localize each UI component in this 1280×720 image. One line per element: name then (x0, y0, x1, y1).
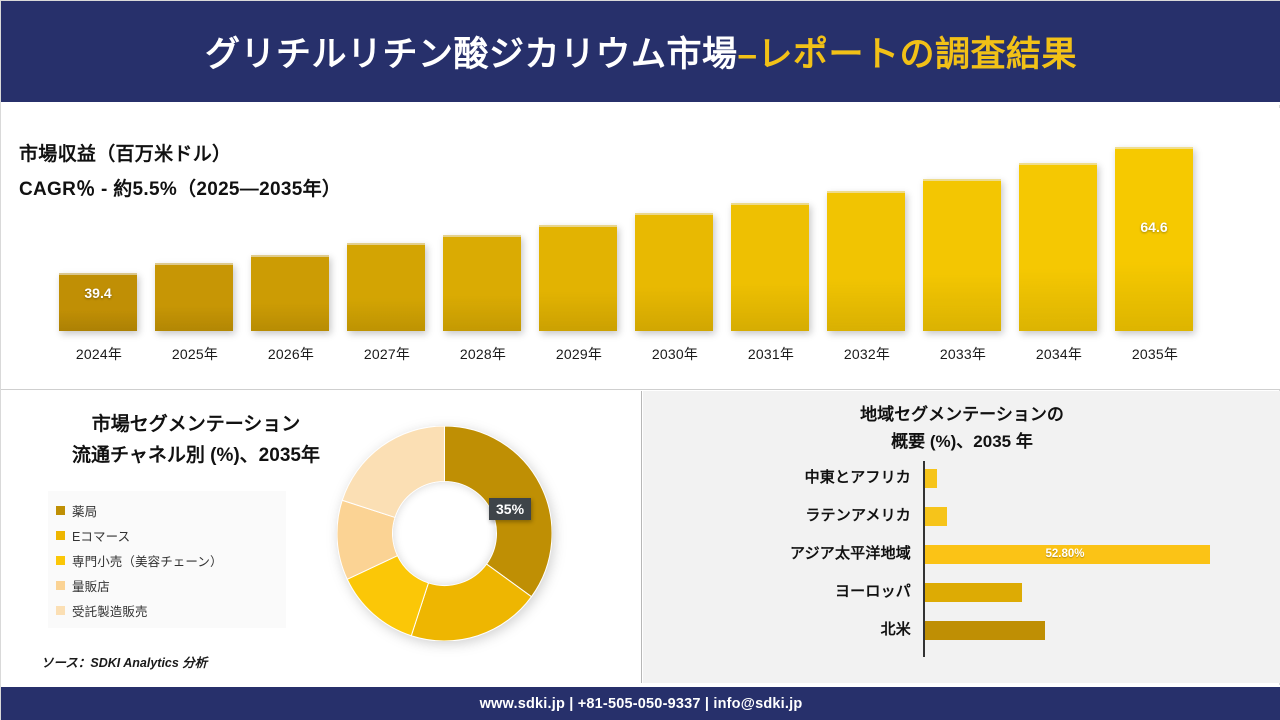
revenue-bar-group: 2029年 (531, 108, 627, 390)
page-title-accent: –レポートの調査結果 (738, 35, 1077, 74)
revenue-bar-xlabel: 2030年 (627, 344, 723, 364)
revenue-bar-xlabel: 2033年 (915, 344, 1011, 364)
legend-swatch-icon (56, 556, 65, 565)
segmentation-title: 市場セグメンテーション 流通チャネル別 (%)、2035年 (31, 409, 361, 471)
revenue-bar (827, 191, 905, 331)
revenue-bar (155, 263, 233, 331)
revenue-bar-xlabel: 2026年 (243, 344, 339, 364)
legend-item[interactable]: Eコマース (56, 523, 278, 548)
donut-chart: 35% (337, 426, 552, 641)
donut-value-callout: 35% (489, 498, 531, 520)
revenue-bar-xlabel: 2029年 (531, 344, 627, 364)
revenue-bar-group: 2033年 (915, 108, 1011, 390)
regional-bar-label: 中東とアフリカ (643, 465, 911, 491)
revenue-bar-value: 64.6 (1115, 219, 1193, 235)
regional-bar-value: 52.80% (1046, 545, 1085, 564)
segmentation-title-line1: 市場セグメンテーション (31, 409, 361, 440)
revenue-bar-group: 39.42024年 (51, 108, 147, 390)
legend-swatch-icon (56, 506, 65, 515)
legend-swatch-icon (56, 531, 65, 540)
revenue-bar-group: 2025年 (147, 108, 243, 390)
revenue-bar (251, 255, 329, 331)
legend-swatch-icon (56, 581, 65, 590)
revenue-bar-value: 39.4 (59, 285, 137, 301)
revenue-bar-xlabel: 2028年 (435, 344, 531, 364)
legend-item-label: 薬局 (72, 501, 97, 520)
revenue-bar-xlabel: 2031年 (723, 344, 819, 364)
regional-bar-row: 中東とアフリカ (643, 465, 1280, 491)
legend-item[interactable]: 専門小売（美容チェーン） (56, 548, 278, 573)
regional-bar-label: アジア太平洋地域 (643, 541, 911, 567)
page-title-main: グリチルリチン酸ジカリウム市場 (205, 35, 738, 74)
revenue-bar-xlabel: 2027年 (339, 344, 435, 364)
legend-item-label: Eコマース (72, 526, 130, 545)
revenue-bar-xlabel: 2032年 (819, 344, 915, 364)
revenue-bar-group: 64.62035年 (1107, 108, 1203, 390)
regional-title: 地域セグメンテーションの 概要 (%)、2035 年 (643, 401, 1280, 455)
regional-bar-row: ラテンアメリカ (643, 503, 1280, 529)
regional-bar-row: アジア太平洋地域52.80% (643, 541, 1280, 567)
revenue-bar-group: 2028年 (435, 108, 531, 390)
market-revenue-section: 市場収益（百万米ドル） CAGR％ - 約5.5%（2025―2035年） 39… (1, 108, 1280, 390)
revenue-bar-group: 2027年 (339, 108, 435, 390)
donut-legend: 薬局Eコマース専門小売（美容チェーン）量販店受託製造販売 (48, 491, 286, 628)
revenue-bar (731, 203, 809, 331)
infographic-page: グリチルリチン酸ジカリウム市場–レポートの調査結果 市場収益（百万米ドル） CA… (0, 0, 1280, 720)
revenue-bar-group: 2026年 (243, 108, 339, 390)
regional-title-line1: 地域セグメンテーションの (643, 401, 1280, 428)
segmentation-title-line2: 流通チャネル別 (%)、2035年 (31, 440, 361, 471)
legend-item-label: 受託製造販売 (72, 601, 148, 620)
regional-bar (925, 507, 947, 526)
revenue-bar-xlabel: 2025年 (147, 344, 243, 364)
regional-bar-label: ヨーロッパ (643, 579, 911, 605)
revenue-bar (59, 273, 137, 331)
revenue-bar (1115, 147, 1193, 331)
regional-bar (925, 621, 1045, 640)
regional-segmentation-panel: 地域セグメンテーションの 概要 (%)、2035 年 中東とアフリカラテンアメリ… (643, 391, 1280, 683)
legend-item[interactable]: 受託製造販売 (56, 598, 278, 623)
source-note: ソース：SDKI Analytics 分析 (41, 652, 207, 671)
regional-bar (925, 583, 1022, 602)
revenue-bar (347, 243, 425, 331)
revenue-bar-group: 2031年 (723, 108, 819, 390)
revenue-bar-chart: 39.42024年2025年2026年2027年2028年2029年2030年2… (1, 108, 1280, 390)
legend-item[interactable]: 薬局 (56, 498, 278, 523)
regional-bar-row: ヨーロッパ (643, 579, 1280, 605)
donut-hole (393, 482, 496, 585)
regional-bar (925, 469, 937, 488)
page-title: グリチルリチン酸ジカリウム市場–レポートの調査結果 (205, 26, 1077, 77)
revenue-bar-group: 2034年 (1011, 108, 1107, 390)
regional-bar-chart: 中東とアフリカラテンアメリカアジア太平洋地域52.80%ヨーロッパ北米 (643, 459, 1280, 669)
regional-bar-label: ラテンアメリカ (643, 503, 911, 529)
regional-title-line2: 概要 (%)、2035 年 (643, 428, 1280, 455)
revenue-bar-xlabel: 2024年 (51, 344, 147, 364)
page-footer: www.sdki.jp | +81-505-050-9337 | info@sd… (1, 685, 1280, 720)
revenue-bar-group: 2030年 (627, 108, 723, 390)
page-header: グリチルリチン酸ジカリウム市場–レポートの調査結果 (1, 1, 1280, 105)
revenue-bar (923, 179, 1001, 331)
revenue-bar-group: 2032年 (819, 108, 915, 390)
regional-bar-label: 北米 (643, 617, 911, 643)
legend-item-label: 量販店 (72, 576, 110, 595)
legend-item[interactable]: 量販店 (56, 573, 278, 598)
footer-contact[interactable]: www.sdki.jp | +81-505-050-9337 | info@sd… (480, 696, 803, 712)
revenue-bar-xlabel: 2034年 (1011, 344, 1107, 364)
regional-bar-row: 北米 (643, 617, 1280, 643)
revenue-bar (635, 213, 713, 331)
revenue-bar (1019, 163, 1097, 331)
revenue-bar (539, 225, 617, 331)
revenue-bar-xlabel: 2035年 (1107, 344, 1203, 364)
revenue-bar (443, 235, 521, 331)
legend-swatch-icon (56, 606, 65, 615)
legend-item-label: 専門小売（美容チェーン） (72, 551, 223, 570)
